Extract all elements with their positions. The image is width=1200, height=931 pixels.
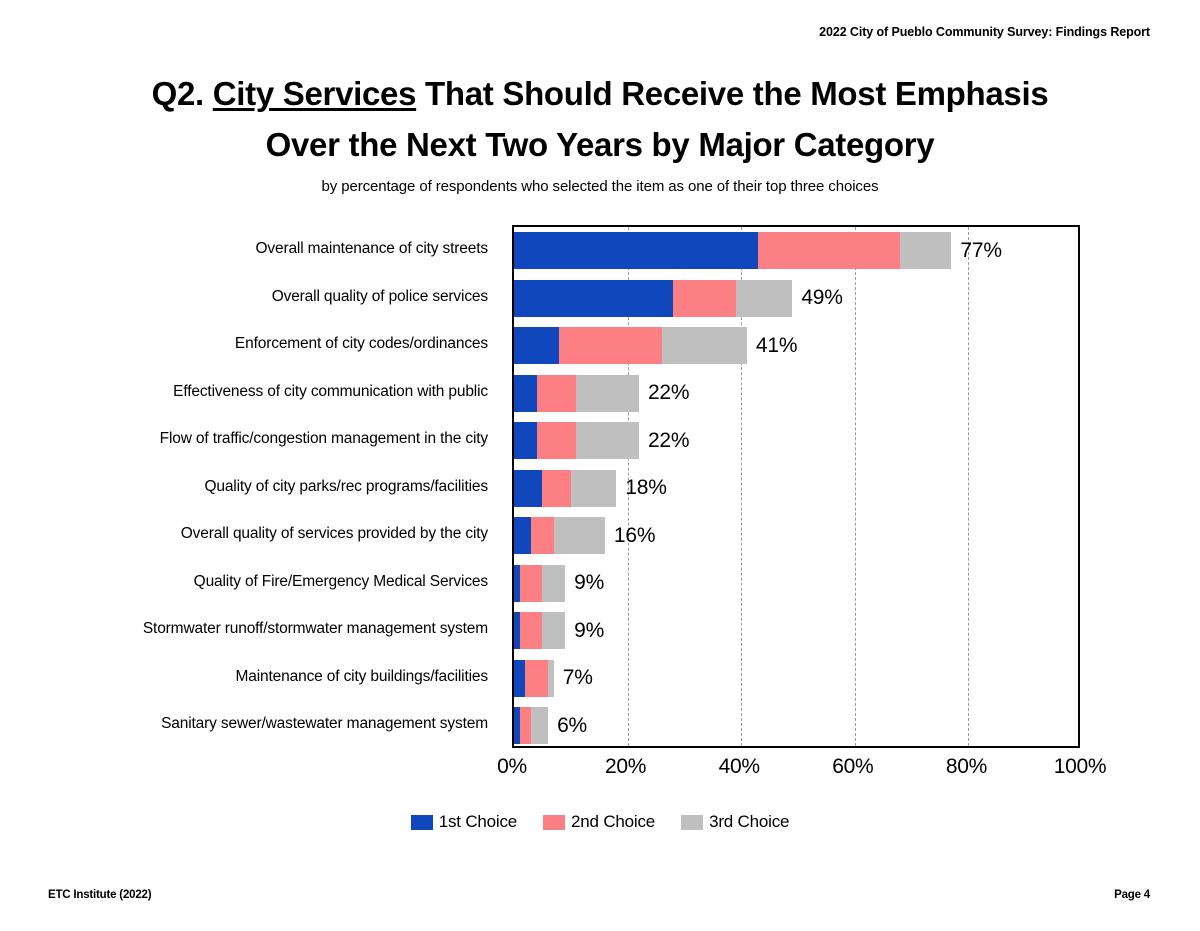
- bar-value-label: 22%: [648, 381, 689, 405]
- gridline-80: [968, 227, 969, 746]
- category-label: Enforcement of city codes/ordinances: [0, 325, 500, 362]
- x-tick-label: 60%: [832, 755, 873, 779]
- chart-legend: 1st Choice2nd Choice3rd Choice: [0, 812, 1200, 832]
- bar-segment-3[interactable]: [900, 232, 951, 269]
- bar-row[interactable]: 7%: [514, 660, 554, 697]
- title-block: Q2. City Services That Should Receive th…: [0, 68, 1200, 195]
- chart-plot-area: 77%49%41%22%22%18%16%9%9%7%6%: [512, 225, 1080, 748]
- bar-value-label: 9%: [574, 619, 604, 643]
- bar-segment-1[interactable]: [514, 375, 537, 412]
- bar-value-label: 9%: [574, 571, 604, 595]
- bar-segment-3[interactable]: [576, 375, 638, 412]
- bar-value-label: 16%: [614, 524, 655, 548]
- bar-row[interactable]: 22%: [514, 375, 639, 412]
- bar-row[interactable]: 6%: [514, 707, 548, 744]
- footer-page-number: Page 4: [1114, 889, 1150, 901]
- bar-segment-3[interactable]: [548, 660, 554, 697]
- bar-row[interactable]: 77%: [514, 232, 951, 269]
- bar-value-label: 41%: [756, 334, 797, 358]
- legend-swatch-icon: [411, 815, 433, 830]
- category-label: Maintenance of city buildings/facilities: [0, 658, 500, 695]
- bar-segment-2[interactable]: [520, 612, 543, 649]
- bar-segment-2[interactable]: [525, 660, 548, 697]
- category-label: Quality of city parks/rec programs/facil…: [0, 468, 500, 505]
- bar-value-label: 22%: [648, 429, 689, 453]
- bar-value-label: 77%: [960, 239, 1001, 263]
- bar-row[interactable]: 9%: [514, 612, 565, 649]
- bar-segment-2[interactable]: [537, 375, 577, 412]
- x-tick-label: 20%: [605, 755, 646, 779]
- bar-segment-2[interactable]: [542, 470, 570, 507]
- legend-label: 1st Choice: [439, 812, 517, 832]
- page-title-line-2: Over the Next Two Years by Major Categor…: [0, 119, 1200, 170]
- x-tick-label: 100%: [1054, 755, 1107, 779]
- bar-segment-2[interactable]: [673, 280, 735, 317]
- bar-row[interactable]: 16%: [514, 517, 605, 554]
- legend-label: 2nd Choice: [571, 812, 655, 832]
- bar-segment-1[interactable]: [514, 327, 559, 364]
- bar-value-label: 49%: [801, 286, 842, 310]
- title-emphasis: City Services: [213, 75, 416, 112]
- footer-source-label: ETC Institute (2022): [48, 889, 151, 901]
- bar-segment-1[interactable]: [514, 422, 537, 459]
- bar-segment-2[interactable]: [520, 707, 531, 744]
- bar-segment-3[interactable]: [554, 517, 605, 554]
- bar-segment-3[interactable]: [542, 565, 565, 602]
- bar-segment-2[interactable]: [758, 232, 900, 269]
- category-label: Stormwater runoff/stormwater management …: [0, 610, 500, 647]
- x-axis-tick-labels: 0%20%40%60%80%100%: [512, 755, 1080, 785]
- category-label: Flow of traffic/congestion management in…: [0, 420, 500, 457]
- slide-canvas: { "header": { "report_label": "2022 City…: [0, 0, 1200, 931]
- title-suffix: That Should Receive the Most Emphasis: [416, 75, 1048, 112]
- category-axis-labels: Overall maintenance of city streetsOvera…: [0, 225, 500, 748]
- gridline-60: [855, 227, 856, 746]
- category-label: Quality of Fire/Emergency Medical Servic…: [0, 563, 500, 600]
- bar-value-label: 18%: [625, 476, 666, 500]
- x-tick-label: 80%: [946, 755, 987, 779]
- x-tick-label: 0%: [497, 755, 527, 779]
- bar-value-label: 6%: [557, 714, 587, 738]
- report-header-label: 2022 City of Pueblo Community Survey: Fi…: [819, 25, 1150, 39]
- bar-segment-3[interactable]: [571, 470, 616, 507]
- title-prefix: Q2.: [152, 75, 213, 112]
- legend-item[interactable]: 1st Choice: [411, 812, 517, 832]
- bar-segment-3[interactable]: [576, 422, 638, 459]
- bar-row[interactable]: 9%: [514, 565, 565, 602]
- bar-row[interactable]: 22%: [514, 422, 639, 459]
- bar-segment-3[interactable]: [542, 612, 565, 649]
- bar-row[interactable]: 49%: [514, 280, 792, 317]
- category-label: Sanitary sewer/wastewater management sys…: [0, 705, 500, 742]
- chart-plot-inner: 77%49%41%22%22%18%16%9%9%7%6%: [514, 227, 1078, 746]
- bar-segment-3[interactable]: [736, 280, 793, 317]
- bar-value-label: 7%: [563, 666, 593, 690]
- bar-segment-1[interactable]: [514, 517, 531, 554]
- bar-segment-2[interactable]: [559, 327, 661, 364]
- bar-segment-3[interactable]: [662, 327, 747, 364]
- bar-segment-2[interactable]: [537, 422, 577, 459]
- bar-segment-3[interactable]: [531, 707, 548, 744]
- bar-segment-1[interactable]: [514, 470, 542, 507]
- legend-item[interactable]: 3rd Choice: [681, 812, 789, 832]
- bar-segment-1[interactable]: [514, 280, 673, 317]
- bar-segment-2[interactable]: [520, 565, 543, 602]
- category-label: Overall maintenance of city streets: [0, 230, 500, 267]
- category-label: Effectiveness of city communication with…: [0, 373, 500, 410]
- category-label: Overall quality of services provided by …: [0, 515, 500, 552]
- bar-segment-1[interactable]: [514, 232, 758, 269]
- legend-item[interactable]: 2nd Choice: [543, 812, 655, 832]
- legend-swatch-icon: [543, 815, 565, 830]
- bar-segment-2[interactable]: [531, 517, 554, 554]
- legend-label: 3rd Choice: [709, 812, 789, 832]
- bar-row[interactable]: 18%: [514, 470, 616, 507]
- bar-row[interactable]: 41%: [514, 327, 747, 364]
- x-tick-label: 40%: [719, 755, 760, 779]
- category-label: Overall quality of police services: [0, 278, 500, 315]
- legend-swatch-icon: [681, 815, 703, 830]
- bar-segment-1[interactable]: [514, 660, 525, 697]
- page-title-line-1: Q2. City Services That Should Receive th…: [0, 68, 1200, 119]
- chart-subtitle: by percentage of respondents who selecte…: [0, 178, 1200, 195]
